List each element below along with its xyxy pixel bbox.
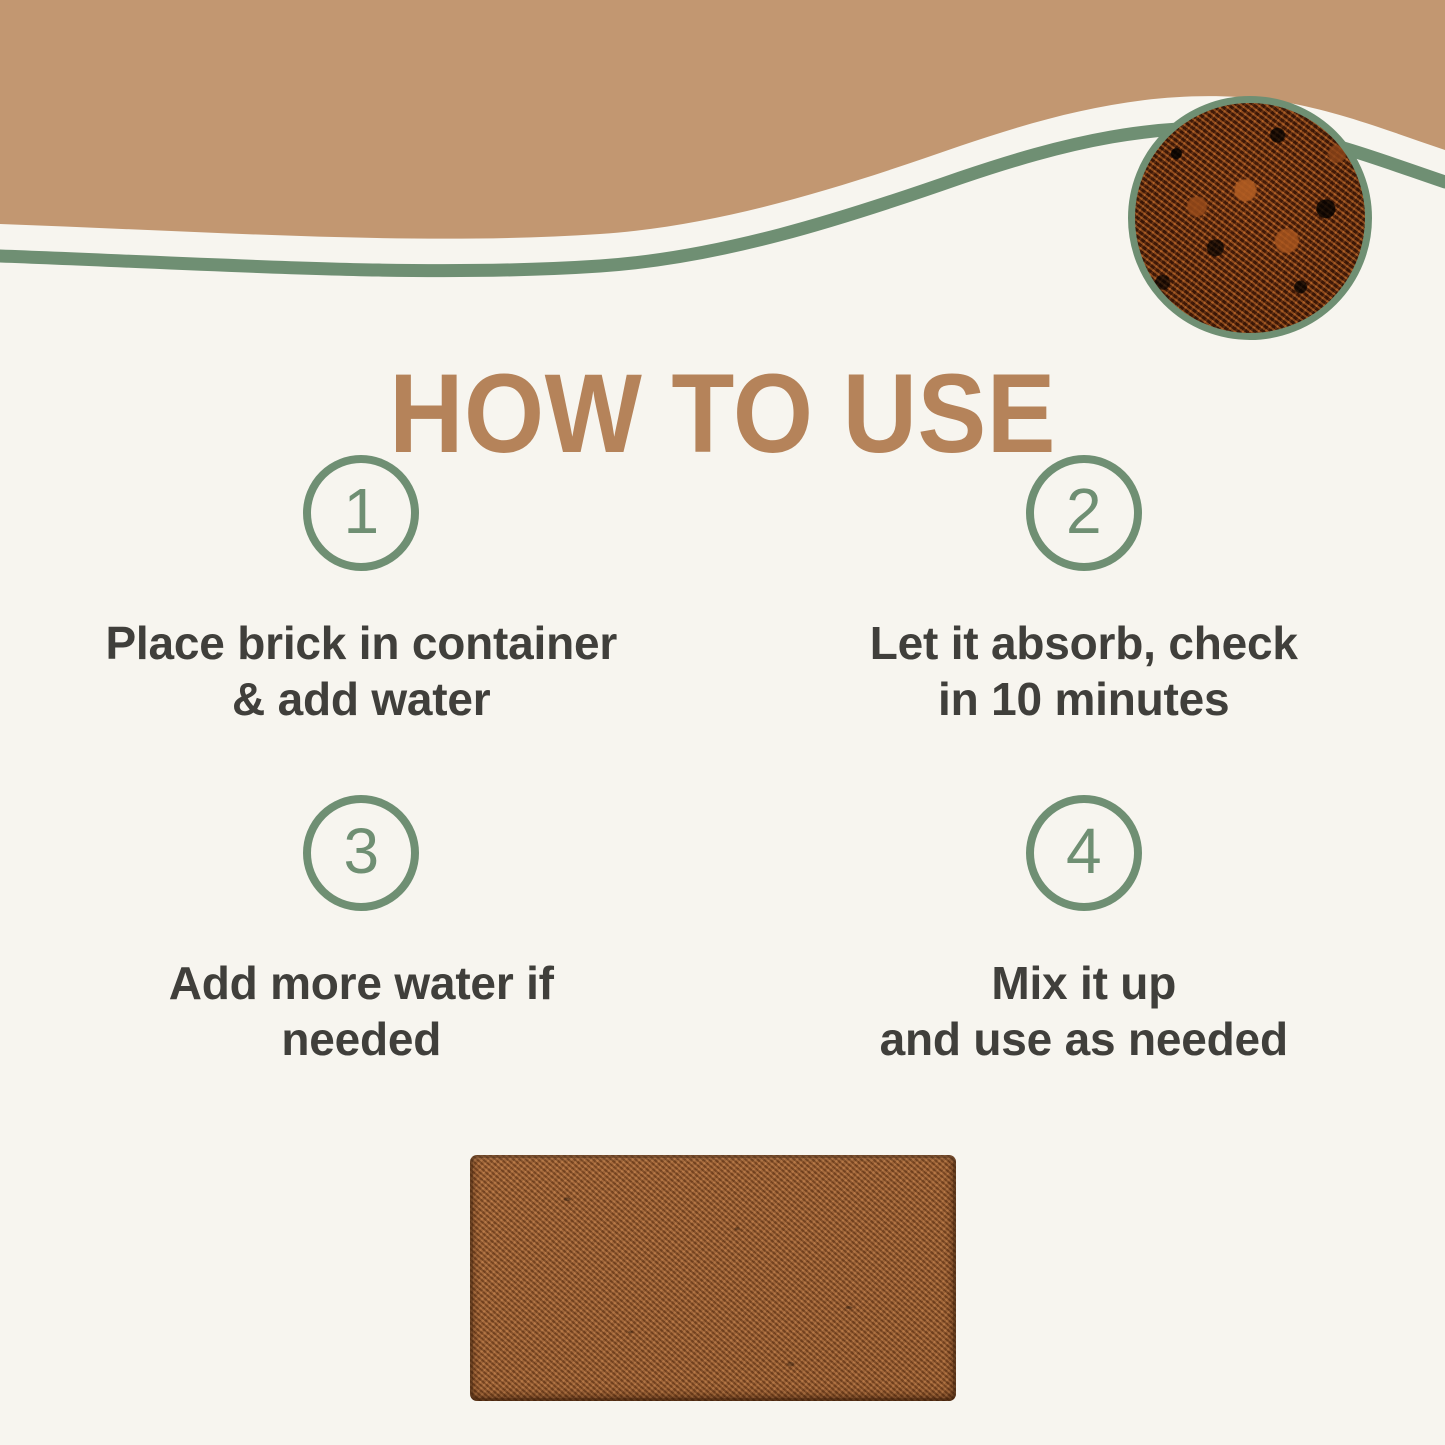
step-2: 2 Let it absorb, check in 10 minutes [723,455,1445,795]
step-4: 4 Mix it up and use as needed [723,795,1445,1135]
step-label-3: Add more water if needed [169,955,554,1067]
step-3: 3 Add more water if needed [0,795,723,1135]
steps-grid: 1 Place brick in container & add water 2… [0,455,1445,1135]
step-number-badge-2: 2 [1026,455,1142,571]
step-label-4: Mix it up and use as needed [880,955,1288,1067]
step-label-2: Let it absorb, check in 10 minutes [870,615,1298,727]
step-label-1: Place brick in container & add water [105,615,617,727]
brick-edge-shading [470,1155,956,1401]
step-1: 1 Place brick in container & add water [0,455,723,795]
soil-closeup-circle [1128,96,1372,340]
step-number-badge-3: 3 [303,795,419,911]
step-number-badge-1: 1 [303,455,419,571]
step-number-badge-4: 4 [1026,795,1142,911]
how-to-use-infographic: HOW TO USE 1 Place brick in container & … [0,0,1445,1445]
coir-brick-image [470,1155,956,1401]
page-title: HOW TO USE [58,358,1387,470]
